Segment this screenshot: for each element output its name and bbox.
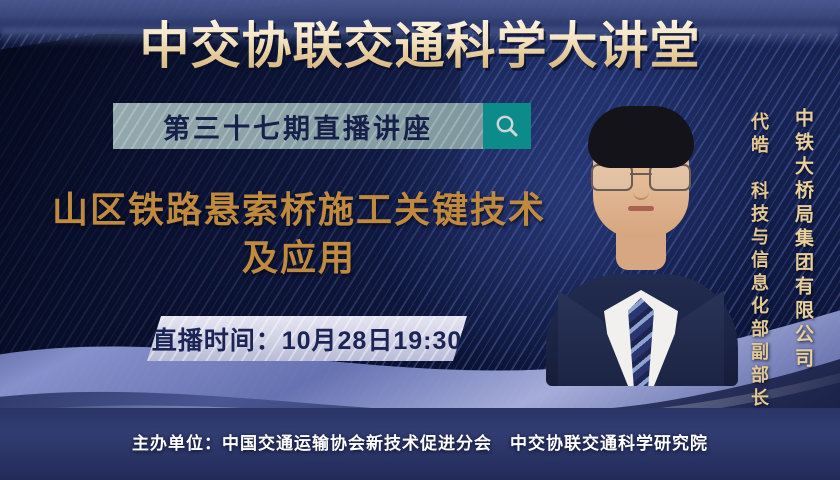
organizer-footer: 主办单位：中国交通运输协会新技术促进分会 中交协联交通科学研究院 — [0, 429, 840, 454]
lecture-title-line-2: 及应用 — [34, 234, 564, 282]
subtitle-banner: 第三十七期直播讲座 — [113, 103, 531, 149]
lecture-title-line-1: 山区铁路悬索桥施工关键技术 — [34, 186, 564, 234]
broadcast-time-text: 直播时间：10月28日19:30 — [152, 321, 463, 357]
subtitle-text: 第三十七期直播讲座 — [163, 107, 433, 146]
search-button[interactable] — [483, 103, 531, 149]
subtitle-bar: 第三十七期直播讲座 — [113, 103, 483, 149]
webinar-poster: 中交协联交通科学大讲堂 第三十七期直播讲座 山区铁路悬索桥施工关键技术 及应用 … — [0, 0, 840, 480]
speaker-hair — [588, 106, 694, 168]
glasses-lens-left — [591, 164, 633, 191]
glasses-lens-right — [649, 164, 691, 191]
speaker-mouth — [628, 206, 654, 211]
speaker-portrait — [552, 96, 730, 386]
page-title: 中交协联交通科学大讲堂 — [0, 16, 840, 76]
broadcast-time-banner: 直播时间：10月28日19:30 — [147, 316, 467, 361]
speaker-name-title: 代皓 科技与信息化部副部长 — [746, 112, 772, 411]
lecture-title: 山区铁路悬索桥施工关键技术 及应用 — [34, 186, 564, 282]
search-icon — [494, 113, 520, 139]
speaker-organization: 中铁大桥局集团有限公司 — [789, 108, 816, 372]
